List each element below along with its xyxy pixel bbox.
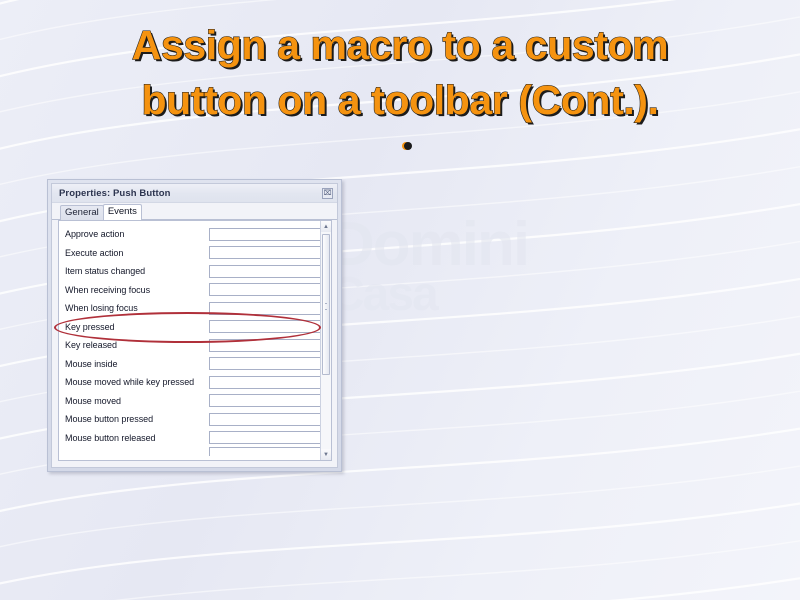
events-vertical-scrollbar[interactable]: ▲ ▼ xyxy=(320,221,331,460)
tab-general[interactable]: General xyxy=(60,205,104,220)
close-icon[interactable]: ⌧ xyxy=(322,188,333,199)
dialog-tabstrip: General Events xyxy=(52,203,337,220)
event-row-label: Mouse button pressed xyxy=(65,414,209,424)
event-assignment-input[interactable] xyxy=(209,228,320,241)
event-row-label: When receiving focus xyxy=(65,285,209,295)
event-assignment-input[interactable] xyxy=(209,431,320,444)
event-assignment-input[interactable] xyxy=(209,413,320,426)
event-row-label: Mouse button released xyxy=(65,433,209,443)
event-row: Mouse button pressed... xyxy=(59,410,320,429)
background-watermark: Domini Casa xyxy=(330,216,660,366)
event-row: Execute action... xyxy=(59,244,320,263)
event-row: When receiving focus... xyxy=(59,281,320,300)
page-title: Assign a macro to a custom button on a t… xyxy=(60,18,740,127)
event-row-label: Mouse moved while key pressed xyxy=(65,377,209,387)
scrollbar-thumb[interactable] xyxy=(322,234,330,375)
event-assignment-input[interactable] xyxy=(209,265,320,278)
event-row: Key pressed... xyxy=(59,318,320,337)
event-row: When losing focus... xyxy=(59,299,320,318)
event-row-label: Item status changed xyxy=(65,266,209,276)
events-row-list: Approve action...Execute action...Item s… xyxy=(59,221,320,460)
event-row: Mouse inside... xyxy=(59,355,320,374)
event-assignment-input[interactable] xyxy=(209,246,320,259)
event-row-label: Mouse moved xyxy=(65,396,209,406)
event-row-label: Approve action xyxy=(65,229,209,239)
event-assignment-input[interactable] xyxy=(209,320,320,333)
event-assignment-input[interactable] xyxy=(209,376,320,389)
event-row: Item status changed... xyxy=(59,262,320,281)
watermark-line-1: Domini xyxy=(330,210,528,279)
bullet-dot-icon xyxy=(404,142,412,150)
slide-canvas: Domini Casa Assign a macro to a custom b… xyxy=(0,0,800,600)
event-assignment-input[interactable] xyxy=(209,394,320,407)
event-row: Mouse button released... xyxy=(59,429,320,448)
scroll-up-arrow-icon[interactable]: ▲ xyxy=(321,221,331,232)
event-row-label: Mouse inside xyxy=(65,359,209,369)
event-row: Mouse moved while key pressed... xyxy=(59,373,320,392)
events-panel: Approve action...Execute action...Item s… xyxy=(58,220,332,461)
event-assignment-input[interactable] xyxy=(209,283,320,296)
event-assignment-input[interactable] xyxy=(209,447,320,456)
event-row-label: Key released xyxy=(65,340,209,350)
event-assignment-input[interactable] xyxy=(209,302,320,315)
event-row: Approve action... xyxy=(59,225,320,244)
scrollbar-track[interactable] xyxy=(321,232,331,449)
dialog-titlebar: Properties: Push Button ⌧ xyxy=(52,184,337,203)
properties-dialog-frame: Properties: Push Button ⌧ General Events… xyxy=(47,179,342,472)
tab-events[interactable]: Events xyxy=(103,204,142,220)
event-row-label: Key pressed xyxy=(65,322,209,332)
properties-dialog: Properties: Push Button ⌧ General Events… xyxy=(51,183,338,468)
event-row: Mouse moved... xyxy=(59,392,320,411)
event-assignment-input[interactable] xyxy=(209,339,320,352)
event-row: Key released... xyxy=(59,336,320,355)
event-row-label: When losing focus xyxy=(65,303,209,313)
scroll-down-arrow-icon[interactable]: ▼ xyxy=(321,449,331,460)
event-row-label: Execute action xyxy=(65,248,209,258)
event-row: ... xyxy=(59,447,320,456)
watermark-line-2: Casa xyxy=(330,273,660,317)
dialog-title-label: Properties: Push Button xyxy=(59,188,322,199)
event-assignment-input[interactable] xyxy=(209,357,320,370)
bullet-list-item xyxy=(404,142,418,150)
